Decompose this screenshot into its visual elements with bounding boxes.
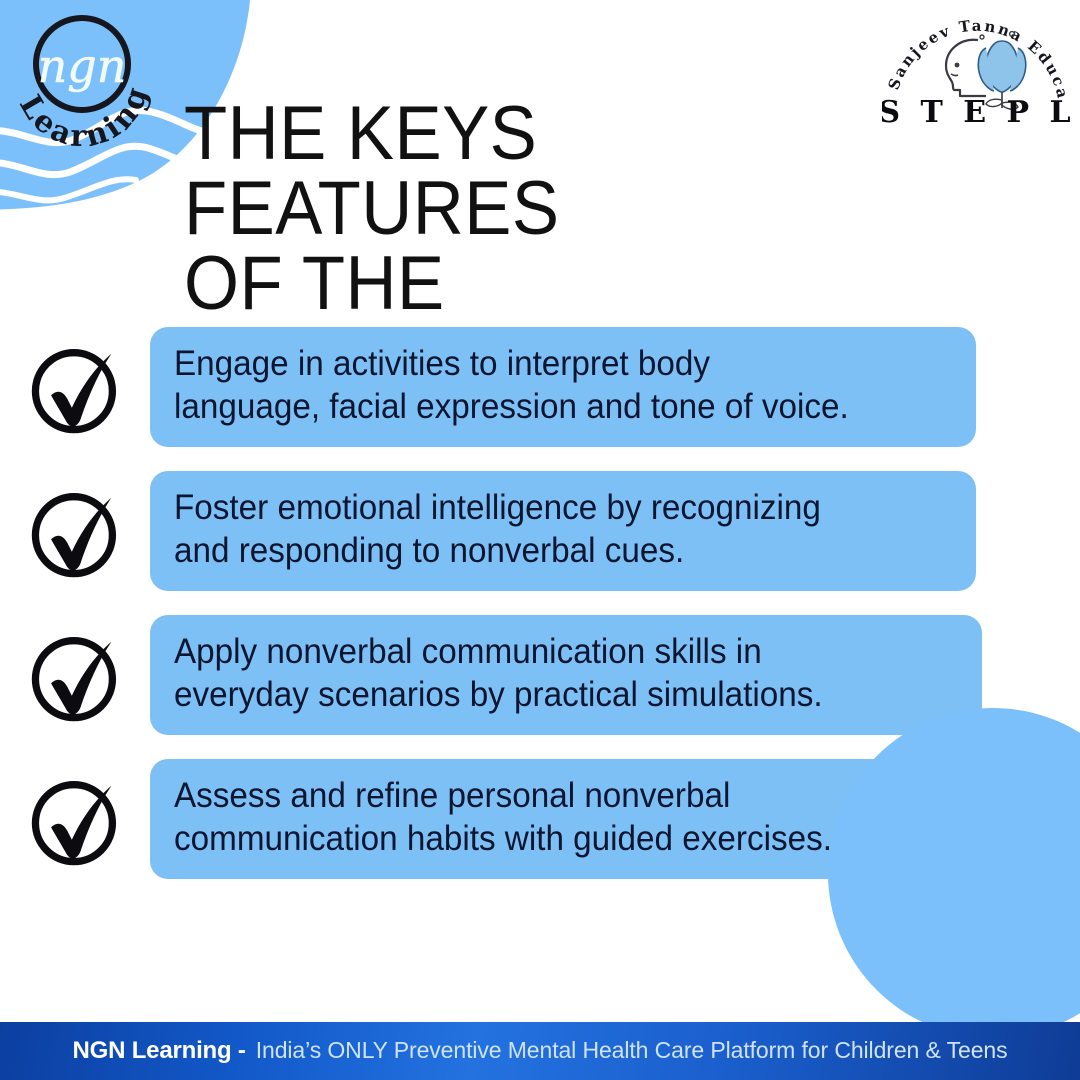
check-circle-icon [24, 767, 128, 871]
feature-text: Foster emotional intelligence by recogni… [174, 487, 821, 572]
feature-text: Apply nonverbal communication skills in … [174, 631, 823, 716]
stepl-logo: Sanjeev Tanna Education S T E P L [882, 4, 1072, 126]
stepl-logo-graphic: Sanjeev Tanna Education S T E P L [882, 4, 1072, 126]
feature-item: Apply nonverbal communication skills in … [24, 614, 1060, 736]
check-circle-icon [24, 335, 128, 439]
feature-card: Foster emotional intelligence by recogni… [150, 471, 976, 590]
stepl-wordmark: S T E P L [882, 95, 1072, 126]
ngn-mark-text: ngn [38, 39, 127, 93]
feature-text: Assess and refine personal nonverbal com… [174, 775, 832, 860]
footer-banner: NGN Learning - India’s ONLY Preventive M… [0, 1022, 1080, 1080]
feature-item: Engage in activities to interpret body l… [24, 326, 1060, 448]
ngn-learning-logo: ngn Learning [8, 6, 168, 146]
check-circle-icon [24, 479, 128, 583]
footer-tagline: India’s ONLY Preventive Mental Health Ca… [256, 1037, 1008, 1064]
ngn-logo-graphic: ngn Learning [8, 6, 168, 146]
poster-canvas: ngn Learning Sanjeev Tanna Education [0, 0, 1080, 1080]
footer-brand: NGN Learning - [73, 1037, 246, 1065]
feature-card: Engage in activities to interpret body l… [150, 327, 976, 446]
stepl-arc-text: Sanjeev Tanna Education [882, 4, 1072, 102]
feature-text: Engage in activities to interpret body l… [174, 343, 849, 428]
feature-card: Apply nonverbal communication skills in … [150, 615, 982, 734]
feature-item: Foster emotional intelligence by recogni… [24, 470, 1060, 592]
check-circle-icon [24, 623, 128, 727]
footer-content: NGN Learning - India’s ONLY Preventive M… [73, 1037, 1008, 1065]
